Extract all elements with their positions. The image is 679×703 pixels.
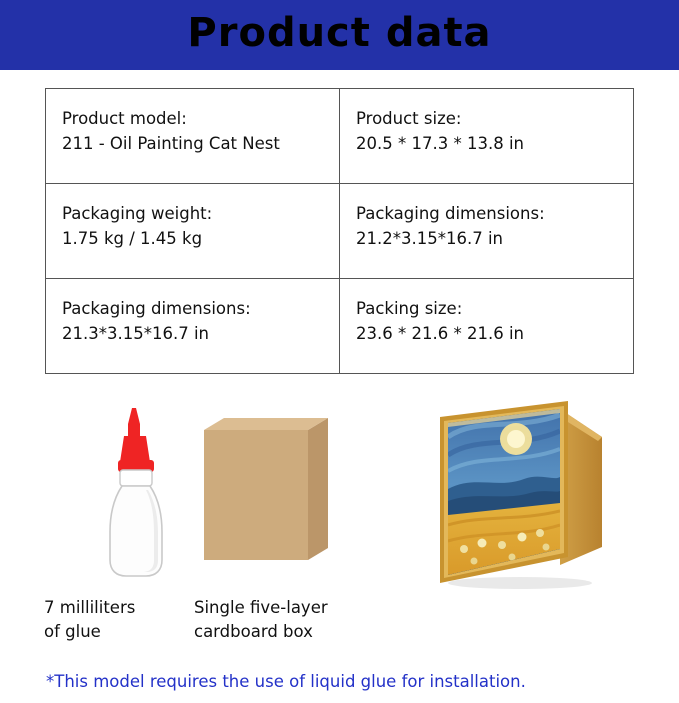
glue-bottle-illustration: [78, 402, 198, 582]
cardboard-box-illustration: [200, 412, 335, 572]
cardboard-box-icon: [200, 412, 335, 572]
caption-glue: 7 milliliters of glue: [44, 596, 204, 644]
table-row: Packaging dimensions: 21.3*3.15*16.7 in …: [46, 279, 634, 374]
caption-box-line1: Single five-layer: [194, 596, 394, 620]
cat-nest-photo: [420, 397, 620, 592]
cell-value: 211 - Oil Painting Cat Nest: [62, 132, 323, 157]
cell-value: 1.75 kg / 1.45 kg: [62, 227, 323, 252]
cell-value: 23.6 * 21.6 * 21.6 in: [356, 322, 617, 347]
spec-table-wrapper: Product model: 211 - Oil Painting Cat Ne…: [45, 88, 634, 374]
footnote: *This model requires the use of liquid g…: [46, 672, 526, 691]
page-title: Product data: [187, 13, 491, 57]
cell-label: Packaging dimensions:: [62, 297, 323, 322]
cell-value: 20.5 * 17.3 * 13.8 in: [356, 132, 617, 157]
cell-value: 21.3*3.15*16.7 in: [62, 322, 323, 347]
cell-label: Product model:: [62, 107, 323, 132]
items-row: [0, 392, 679, 612]
cell-label: Product size:: [356, 107, 617, 132]
table-cell-packaging-dimensions: Packaging dimensions: 21.2*3.15*16.7 in: [340, 184, 634, 279]
caption-box-line2: cardboard box: [194, 620, 394, 644]
caption-glue-line2: of glue: [44, 620, 204, 644]
table-cell-product-size: Product size: 20.5 * 17.3 * 13.8 in: [340, 89, 634, 184]
table-cell-product-model: Product model: 211 - Oil Painting Cat Ne…: [46, 89, 340, 184]
caption-box: Single five-layer cardboard box: [194, 596, 394, 644]
cell-label: Packaging dimensions:: [356, 202, 617, 227]
table-row: Product model: 211 - Oil Painting Cat Ne…: [46, 89, 634, 184]
glue-bottle-icon: [78, 402, 198, 582]
page-banner: Product data: [0, 0, 679, 70]
spec-table: Product model: 211 - Oil Painting Cat Ne…: [45, 88, 634, 374]
product-data-page: Product data Product model: 211 - Oil Pa…: [0, 0, 679, 703]
table-row: Packaging weight: 1.75 kg / 1.45 kg Pack…: [46, 184, 634, 279]
cat-nest-image: [420, 397, 620, 592]
table-cell-packaging-weight: Packaging weight: 1.75 kg / 1.45 kg: [46, 184, 340, 279]
cell-value: 21.2*3.15*16.7 in: [356, 227, 617, 252]
table-cell-packing-size: Packing size: 23.6 * 21.6 * 21.6 in: [340, 279, 634, 374]
cell-label: Packaging weight:: [62, 202, 323, 227]
caption-glue-line1: 7 milliliters: [44, 596, 204, 620]
cell-label: Packing size:: [356, 297, 617, 322]
table-cell-packaging-dimensions-2: Packaging dimensions: 21.3*3.15*16.7 in: [46, 279, 340, 374]
